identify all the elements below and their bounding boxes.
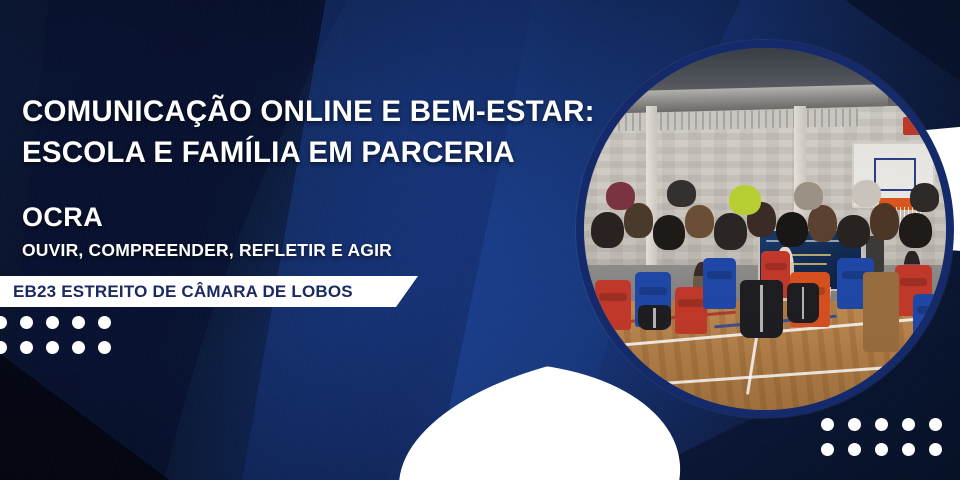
backpack: [787, 283, 820, 323]
audience-head: [910, 183, 939, 211]
page-title: COMUNICAÇÃO ONLINE E BEM-ESTAR: ESCOLA E…: [22, 92, 622, 173]
program-expansion: OUVIR, COMPREENDER, REFLETIR E AGIR: [22, 240, 392, 261]
audience-head: [591, 212, 624, 249]
audience-head: [685, 205, 714, 238]
audience-head: [870, 203, 899, 240]
audience-head: [653, 215, 686, 250]
school-name-strip: EB23 ESTREITO DE CÂMARA DE LOBOS: [0, 276, 418, 307]
audience-head: [776, 212, 809, 247]
audience-head: [837, 215, 870, 248]
audience-head: [808, 205, 837, 242]
audience-head: [729, 185, 762, 215]
headline-line-1: COMUNICAÇÃO ONLINE E BEM-ESTAR:: [22, 95, 595, 128]
audience-head: [852, 180, 881, 207]
event-banner: COMUNICAÇÃO ONLINE E BEM-ESTAR: ESCOLA E…: [0, 0, 960, 480]
school-name-label: EB23 ESTREITO DE CÂMARA DE LOBOS: [0, 282, 353, 302]
headline-line-2: ESCOLA E FAMÍLIA EM PARCERIA: [22, 133, 622, 174]
audience-head: [899, 213, 932, 248]
backpack: [638, 305, 671, 330]
backpack: [740, 280, 783, 338]
program-acronym: OCRA: [22, 202, 103, 233]
audience-head: [794, 182, 823, 210]
audience-head: [667, 180, 696, 207]
audience-head: [714, 213, 747, 250]
audience-head: [606, 182, 635, 210]
wall-sign-icon: [903, 117, 921, 135]
event-photo: [584, 48, 946, 410]
